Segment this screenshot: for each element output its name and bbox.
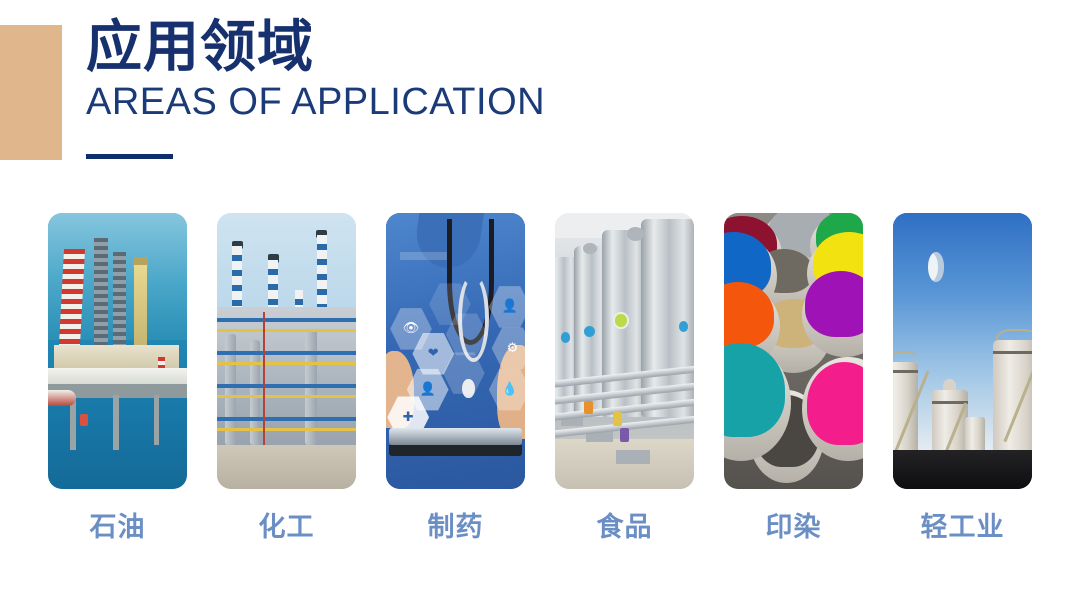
blood-drop-icon: 💧: [502, 383, 518, 396]
title-underline-rule: [86, 154, 173, 159]
heart-icon: ❤: [428, 347, 439, 360]
application-card-dyeing[interactable]: [724, 213, 863, 489]
application-card-pharmaceutical[interactable]: 👁 ❤ 👤 👤 ⚙ 💧 ✚: [386, 213, 525, 489]
page-title: 应用领域: [86, 18, 545, 78]
card-label-pharmaceutical: 制药: [386, 505, 525, 544]
medical-cross-icon: ✚: [403, 411, 414, 424]
tan-accent-block: [0, 25, 62, 160]
microscope-icon: ⚙: [507, 342, 519, 355]
card-label-food: 食品: [555, 505, 694, 544]
card-label-petroleum: 石油: [48, 505, 187, 544]
offshore-oil-rig-photo: [48, 213, 187, 489]
eye-icon: 👁: [403, 322, 420, 335]
application-card-food[interactable]: [555, 213, 694, 489]
chemical-refinery-photo: [217, 213, 356, 489]
application-areas-slide: 应用领域 AREAS OF APPLICATION: [0, 0, 1080, 592]
page-subtitle: AREAS OF APPLICATION: [86, 82, 545, 124]
food-processing-tanks-photo: [555, 213, 694, 489]
card-label-chemical: 化工: [217, 505, 356, 544]
pharmaceutical-technology-photo: 👁 ❤ 👤 👤 ⚙ 💧 ✚: [386, 213, 525, 489]
card-label-light-industry: 轻工业: [893, 505, 1032, 544]
dye-powders-photo: [724, 213, 863, 489]
person-icon: 👤: [420, 383, 436, 396]
storage-tanks-photo: [893, 213, 1032, 489]
application-card-chemical[interactable]: [217, 213, 356, 489]
card-label-dyeing: 印染: [724, 505, 863, 544]
page-header: 应用领域 AREAS OF APPLICATION: [86, 18, 545, 124]
application-labels-row: 石油 化工 制药 食品 印染 轻工业: [48, 505, 1032, 544]
application-cards-row: 👁 ❤ 👤 👤 ⚙ 💧 ✚: [48, 213, 1032, 489]
patient-icon: 👤: [502, 300, 518, 313]
application-card-light-industry[interactable]: [893, 213, 1032, 489]
application-card-petroleum[interactable]: [48, 213, 187, 489]
